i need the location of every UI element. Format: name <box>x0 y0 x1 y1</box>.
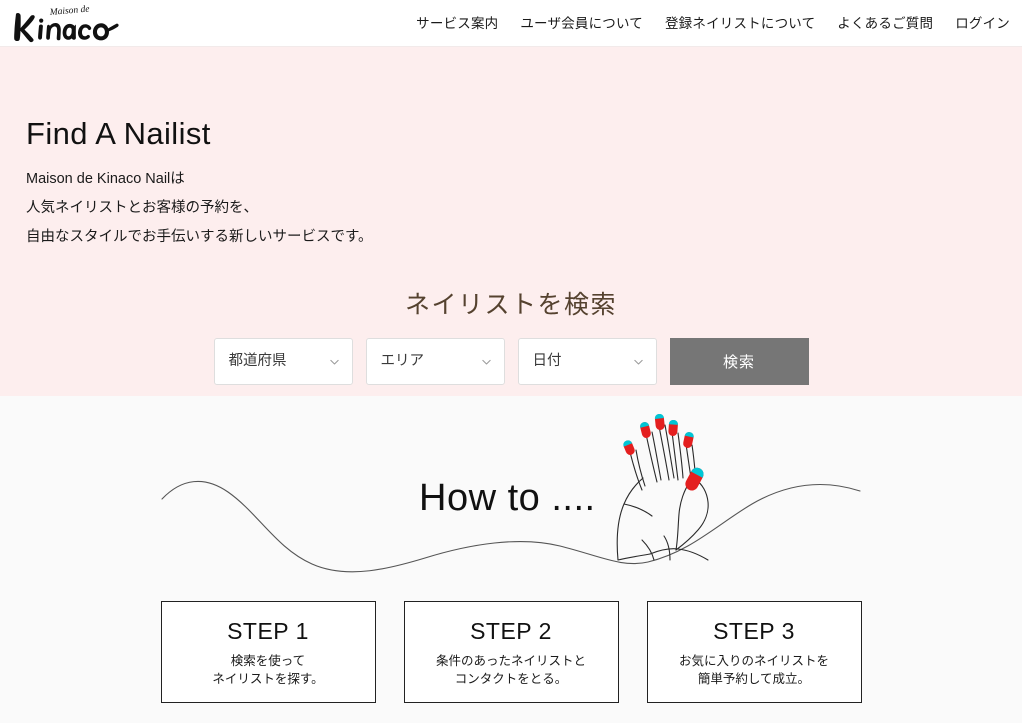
step-desc-line: お気に入りのネイリストを <box>679 652 829 670</box>
chevron-down-icon <box>633 356 644 367</box>
step-description: お気に入りのネイリストを 簡単予約して成立。 <box>679 652 829 688</box>
howto-title: How to .... <box>419 479 596 517</box>
hero-line-1: Maison de Kinaco Nailは <box>26 165 373 194</box>
steps-container: STEP 1 検索を使って ネイリストを探す。 STEP 2 条件のあったネイリ… <box>0 601 1022 703</box>
nav-service-guide[interactable]: サービス案内 <box>416 17 498 31</box>
step-title: STEP 3 <box>713 618 795 644</box>
site-header: Maison de サービス案内 ユーザ会員について 登録ネイリストについて よ… <box>0 0 1022 47</box>
page-title: Find A Nailist <box>26 117 211 151</box>
step-title: STEP 2 <box>470 618 552 644</box>
step-card-3[interactable]: STEP 3 お気に入りのネイリストを 簡単予約して成立。 <box>647 601 862 703</box>
howto-section: How to .... STEP 1 検索を使って ネイリストを探す。 STEP… <box>0 396 1022 723</box>
step-desc-line: コンタクトをとる。 <box>436 670 586 688</box>
step-description: 検索を使って ネイリストを探す。 <box>212 652 323 688</box>
step-card-1[interactable]: STEP 1 検索を使って ネイリストを探す。 <box>161 601 376 703</box>
step-desc-line: 簡単予約して成立。 <box>679 670 829 688</box>
step-desc-line: 条件のあったネイリストと <box>436 652 586 670</box>
hand-illustration <box>612 408 732 568</box>
hero-section: Find A Nailist Maison de Kinaco Nailは 人気… <box>0 47 1022 396</box>
step-desc-line: 検索を使って <box>212 652 323 670</box>
hero-description: Maison de Kinaco Nailは 人気ネイリストとお客様の予約を、 … <box>26 165 373 252</box>
date-select[interactable]: 日付 <box>518 338 657 385</box>
nav-user-membership[interactable]: ユーザ会員について <box>520 17 643 31</box>
brand-logo[interactable]: Maison de <box>8 2 128 46</box>
nav-registered-nailist[interactable]: 登録ネイリストについて <box>665 17 815 31</box>
nav-login[interactable]: ログイン <box>955 17 1010 31</box>
prefecture-select-value: 都道府県 <box>215 354 287 369</box>
area-select[interactable]: エリア <box>366 338 505 385</box>
search-heading: ネイリストを検索 <box>0 290 1022 320</box>
search-controls-row: 都道府県 エリア 日付 検索 <box>0 338 1022 385</box>
step-title: STEP 1 <box>227 618 309 644</box>
hero-line-2: 人気ネイリストとお客様の予約を、 <box>26 194 373 223</box>
hero-line-3: 自由なスタイルでお手伝いする新しいサービスです。 <box>26 223 373 252</box>
svg-text:Maison de: Maison de <box>48 5 90 19</box>
area-select-value: エリア <box>367 354 425 369</box>
date-select-value: 日付 <box>519 354 562 369</box>
main-navigation: サービス案内 ユーザ会員について 登録ネイリストについて よくあるご質問 ログイ… <box>416 0 1010 47</box>
search-button[interactable]: 検索 <box>670 338 809 385</box>
step-desc-line: ネイリストを探す。 <box>212 670 323 688</box>
nav-faq[interactable]: よくあるご質問 <box>837 17 933 31</box>
nailist-search-block: ネイリストを検索 都道府県 エリア 日付 検索 <box>0 290 1022 385</box>
step-card-2[interactable]: STEP 2 条件のあったネイリストと コンタクトをとる。 <box>404 601 619 703</box>
chevron-down-icon <box>481 356 492 367</box>
step-description: 条件のあったネイリストと コンタクトをとる。 <box>436 652 586 688</box>
prefecture-select[interactable]: 都道府県 <box>214 338 353 385</box>
chevron-down-icon <box>329 356 340 367</box>
